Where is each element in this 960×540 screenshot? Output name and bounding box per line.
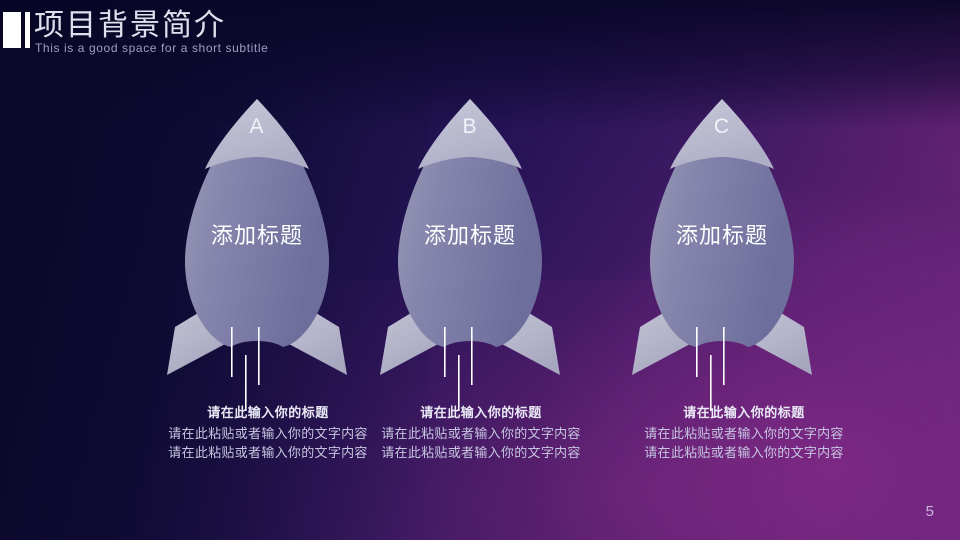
rocket-exhaust-line-left xyxy=(696,327,698,377)
header-decoration-bar-icon xyxy=(25,12,30,48)
rocket-b-graphic xyxy=(370,93,570,413)
rocket-exhaust-line-left xyxy=(231,327,233,377)
rocket-c-graphic xyxy=(622,93,822,413)
rocket-exhaust-line-left xyxy=(444,327,446,377)
rocket-exhaust-line-center xyxy=(710,355,712,411)
rocket-b-letter: B xyxy=(370,115,570,139)
caption-block-c[interactable]: 请在此输入你的标题 请在此粘贴或者输入你的文字内容 请在此粘贴或者输入你的文字内… xyxy=(629,404,859,462)
rocket-c-title: 添加标题 xyxy=(622,218,822,250)
caption-a-line-2: 请在此粘贴或者输入你的文字内容 xyxy=(153,443,383,462)
rocket-a-letter: A xyxy=(157,115,357,139)
rocket-b-title: 添加标题 xyxy=(370,218,570,250)
caption-block-a[interactable]: 请在此输入你的标题 请在此粘贴或者输入你的文字内容 请在此粘贴或者输入你的文字内… xyxy=(153,404,383,462)
rocket-exhaust-line-center xyxy=(458,355,460,411)
rocket-exhaust-line-right xyxy=(258,327,260,385)
caption-b-heading: 请在此输入你的标题 xyxy=(366,404,596,422)
rocket-exhaust-line-right xyxy=(723,327,725,385)
slide-header: 项目背景简介 This is a good space for a short … xyxy=(0,0,960,70)
page-title: 项目背景简介 xyxy=(34,9,226,43)
slide-canvas: 项目背景简介 This is a good space for a short … xyxy=(0,0,960,540)
caption-a-line-1: 请在此粘贴或者输入你的文字内容 xyxy=(153,424,383,443)
caption-a-heading: 请在此输入你的标题 xyxy=(153,404,383,422)
caption-c-line-1: 请在此粘贴或者输入你的文字内容 xyxy=(629,424,859,443)
rocket-c[interactable]: C 添加标题 xyxy=(622,93,822,413)
rocket-a-title: 添加标题 xyxy=(157,218,357,250)
page-subtitle: This is a good space for a short subtitl… xyxy=(35,41,268,55)
page-number: 5 xyxy=(926,503,934,520)
rocket-a-graphic xyxy=(157,93,357,413)
caption-c-heading: 请在此输入你的标题 xyxy=(629,404,859,422)
rocket-exhaust-line-right xyxy=(471,327,473,385)
rocket-c-letter: C xyxy=(622,115,822,139)
rocket-b[interactable]: B 添加标题 xyxy=(370,93,570,413)
caption-block-b[interactable]: 请在此输入你的标题 请在此粘贴或者输入你的文字内容 请在此粘贴或者输入你的文字内… xyxy=(366,404,596,462)
rocket-exhaust-line-center xyxy=(245,355,247,411)
rocket-a[interactable]: A 添加标题 xyxy=(157,93,357,413)
header-decoration-block-icon xyxy=(3,12,21,48)
caption-c-line-2: 请在此粘贴或者输入你的文字内容 xyxy=(629,443,859,462)
caption-b-line-1: 请在此粘贴或者输入你的文字内容 xyxy=(366,424,596,443)
caption-b-line-2: 请在此粘贴或者输入你的文字内容 xyxy=(366,443,596,462)
